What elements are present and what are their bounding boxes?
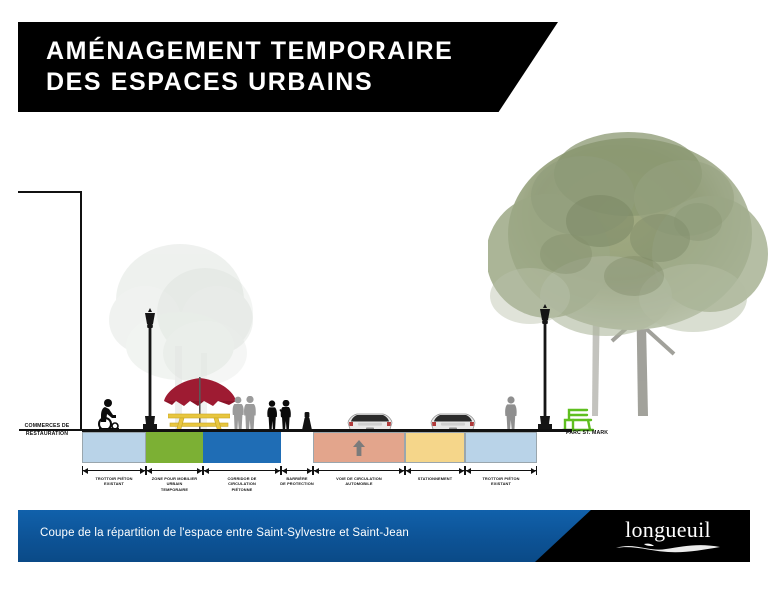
parc-annotation: PARC ST. MARK bbox=[566, 430, 646, 436]
dimension-arrow bbox=[147, 468, 152, 474]
dimension-arrow bbox=[140, 468, 145, 474]
dimension-arrow bbox=[314, 468, 319, 474]
park-tree-large-icon bbox=[488, 126, 768, 434]
traffic-direction-arrow-icon bbox=[352, 440, 366, 456]
band-segment-stationnement[interactable] bbox=[405, 432, 465, 463]
dimension-arrow bbox=[531, 468, 536, 474]
dimension-label-2: CORRIDOR DECIRCULATIONPIÉTONNE bbox=[203, 466, 281, 510]
dimension-line bbox=[146, 470, 203, 471]
page-title-line-2: DES ESPACES URBAINS bbox=[46, 67, 558, 98]
poster-canvas: AMÉNAGEMENT TEMPORAIRE DES ESPACES URBAI… bbox=[0, 0, 768, 593]
caption-bar: Coupe de la répartition de l'espace entr… bbox=[18, 510, 750, 562]
longueuil-logo[interactable]: longueuil bbox=[608, 518, 728, 555]
dimension-arrow bbox=[204, 468, 209, 474]
band-segment-trottoir-existant-right[interactable] bbox=[465, 432, 537, 463]
dimension-label-6: TROTTOIR PIÉTONEXISTANT bbox=[465, 466, 537, 510]
dimension-arrow bbox=[399, 468, 404, 474]
parc-annotation-text: PARC ST. MARK bbox=[566, 430, 608, 436]
dimension-tick bbox=[536, 466, 537, 475]
street-cross-section-illustration: TROTTOIR PIÉTONEXISTANTZONE POUR MOBILIE… bbox=[0, 118, 768, 496]
building-facade bbox=[19, 191, 82, 431]
dimension-arrow bbox=[275, 468, 280, 474]
dimension-line bbox=[465, 470, 537, 471]
commerces-annotation-text: COMMERCES DE RESTAURATION bbox=[25, 423, 70, 437]
pedestrian-pair-dark-icon bbox=[266, 400, 294, 432]
band-segment-trottoir-existant-left[interactable] bbox=[82, 432, 146, 463]
dimension-arrow bbox=[459, 468, 464, 474]
band-segment-zone-mobilier[interactable] bbox=[146, 432, 203, 463]
dimension-label-3: BARRIÈREDE PROTECTION bbox=[281, 466, 313, 510]
dimension-line bbox=[203, 470, 281, 471]
dimension-line bbox=[82, 470, 146, 471]
dimension-label-text: TROTTOIR PIÉTONEXISTANT bbox=[455, 476, 547, 487]
dimension-arrow bbox=[83, 468, 88, 474]
dimension-arrow bbox=[307, 468, 312, 474]
dimension-line bbox=[405, 470, 465, 471]
street-lamp-right-full-icon bbox=[534, 304, 556, 432]
wheelchair-user-silhouette-icon bbox=[96, 398, 122, 430]
wave-swoosh-icon bbox=[614, 541, 722, 555]
title-banner: AMÉNAGEMENT TEMPORAIRE DES ESPACES URBAI… bbox=[18, 22, 558, 112]
dimension-arrow bbox=[282, 468, 287, 474]
caption-text: Coupe de la répartition de l'espace entr… bbox=[40, 527, 409, 539]
cross-section-band bbox=[82, 432, 537, 463]
street-lamp-left-icon bbox=[139, 308, 161, 432]
band-segment-barriere-protection[interactable] bbox=[281, 432, 313, 463]
band-segment-voie-automobile[interactable] bbox=[313, 432, 405, 463]
pedestrian-right-silhouette-icon bbox=[503, 396, 519, 432]
dimension-arrow bbox=[197, 468, 202, 474]
longueuil-logo-wordmark: longueuil bbox=[608, 518, 728, 541]
page-title-line-1: AMÉNAGEMENT TEMPORAIRE bbox=[46, 36, 558, 67]
dimension-arrow bbox=[406, 468, 411, 474]
dimension-arrow bbox=[466, 468, 471, 474]
pedestrian-group-icon bbox=[231, 396, 257, 432]
dimension-labels: TROTTOIR PIÉTONEXISTANTZONE POUR MOBILIE… bbox=[82, 466, 537, 510]
dimension-label-4: VOIE DE CIRCULATIONAUTOMOBILE bbox=[313, 466, 405, 510]
commerces-annotation: COMMERCES DE RESTAURATION bbox=[16, 423, 78, 438]
dimension-line bbox=[313, 470, 405, 471]
band-segment-corridor-pietonne[interactable] bbox=[203, 432, 281, 463]
dimension-label-5: STATIONNEMENT bbox=[405, 466, 465, 510]
